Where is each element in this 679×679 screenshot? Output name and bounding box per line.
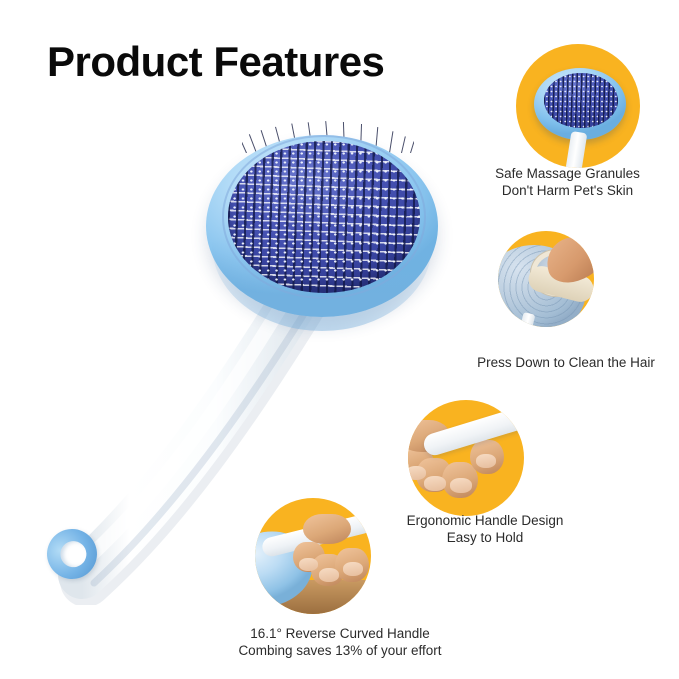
mini-brush-head: [534, 68, 626, 140]
callout-caption-line-1: Safe Massage Granules: [455, 165, 679, 182]
callout-caption: Safe Massage Granules Don't Harm Pet's S…: [455, 165, 679, 199]
callout-caption-line-1: Press Down to Clean the Hair: [452, 354, 679, 371]
callout-caption-line-2: Don't Harm Pet's Skin: [455, 182, 679, 199]
hand: [289, 512, 371, 598]
callout-caption-line-2: Combing saves 13% of your effort: [180, 642, 500, 659]
callout-caption-line-1: Ergonomic Handle Design: [370, 512, 600, 529]
callout-image-hand-gripping-handle: [408, 400, 524, 516]
brush-head-shell: [206, 135, 438, 317]
bristle-tips: [228, 141, 420, 281]
product-features-infographic: Product Features: [0, 0, 679, 679]
callout-caption: Press Down to Clean the Hair: [452, 354, 679, 371]
brush-head: [206, 117, 440, 322]
brush-bristle-pad: [228, 141, 420, 293]
page-title: Product Features: [47, 38, 384, 86]
mini-bristle-pad: [544, 73, 618, 128]
callout-caption: 16.1° Reverse Curved Handle Combing save…: [180, 625, 500, 659]
callout-caption-line-2: Easy to Hold: [370, 529, 600, 546]
callout-caption: Ergonomic Handle Design Easy to Hold: [370, 512, 600, 546]
callout-image-thumb-pressing-button: [498, 231, 594, 327]
callout-image-brush-head-closeup: [516, 44, 640, 168]
callout-image-grooming-pet: [255, 498, 371, 614]
mini-bristle-rows: [544, 73, 618, 128]
callout-caption-line-1: 16.1° Reverse Curved Handle: [180, 625, 500, 642]
